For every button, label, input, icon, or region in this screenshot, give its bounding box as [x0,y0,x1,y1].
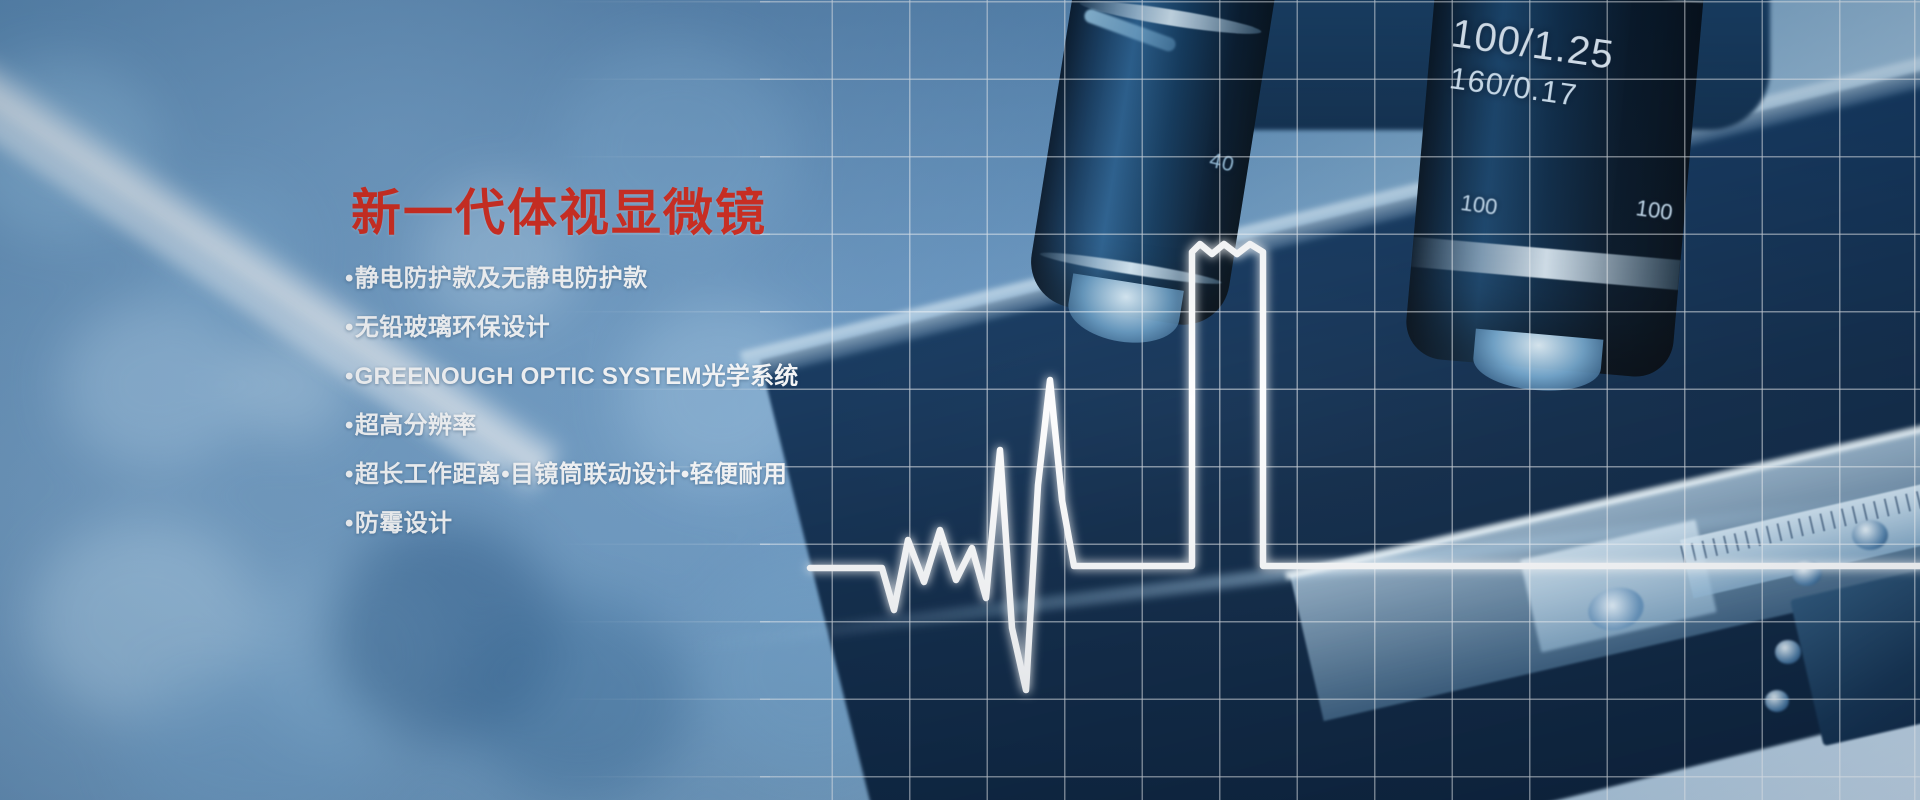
feature-text: GREENOUGH OPTIC SYSTEM光学系统 [355,363,799,390]
feature-list: •静电防护款及无静电防护款 •无铅玻璃环保设计 •GREENOUGH OPTIC… [345,267,1045,536]
feature-text: 超高分辨率 [355,412,477,439]
product-hero-banner: 40 100/1.25 160/0.17 100 100 [0,0,1920,800]
bullet-marker-icon: • [345,265,354,292]
feature-text: 静电防护款及无静电防护款 [355,265,648,292]
banner-copy-block: 新一代体视显微镜 •静电防护款及无静电防护款 •无铅玻璃环保设计 •GREENO… [345,186,1045,561]
list-item: •超长工作距离•目镜筒联动设计•轻便耐用 [345,463,1045,487]
bullet-marker-icon: • [345,363,354,390]
bullet-marker-icon: • [345,314,354,341]
feature-text: 防霉设计 [355,510,453,537]
list-item: •超高分辨率 [345,414,1045,438]
list-item: •GREENOUGH OPTIC SYSTEM光学系统 [345,365,1045,389]
feature-text: 无铅玻璃环保设计 [355,314,550,341]
page-title: 新一代体视显微镜 [351,186,1045,241]
bullet-marker-icon: • [345,412,354,439]
list-item: •静电防护款及无静电防护款 [345,267,1045,291]
bullet-marker-icon: • [345,461,354,488]
feature-text: 超长工作距离•目镜筒联动设计•轻便耐用 [355,461,787,488]
list-item: •无铅玻璃环保设计 [345,316,1045,340]
bullet-marker-icon: • [345,510,354,537]
list-item: •防霉设计 [345,512,1045,536]
